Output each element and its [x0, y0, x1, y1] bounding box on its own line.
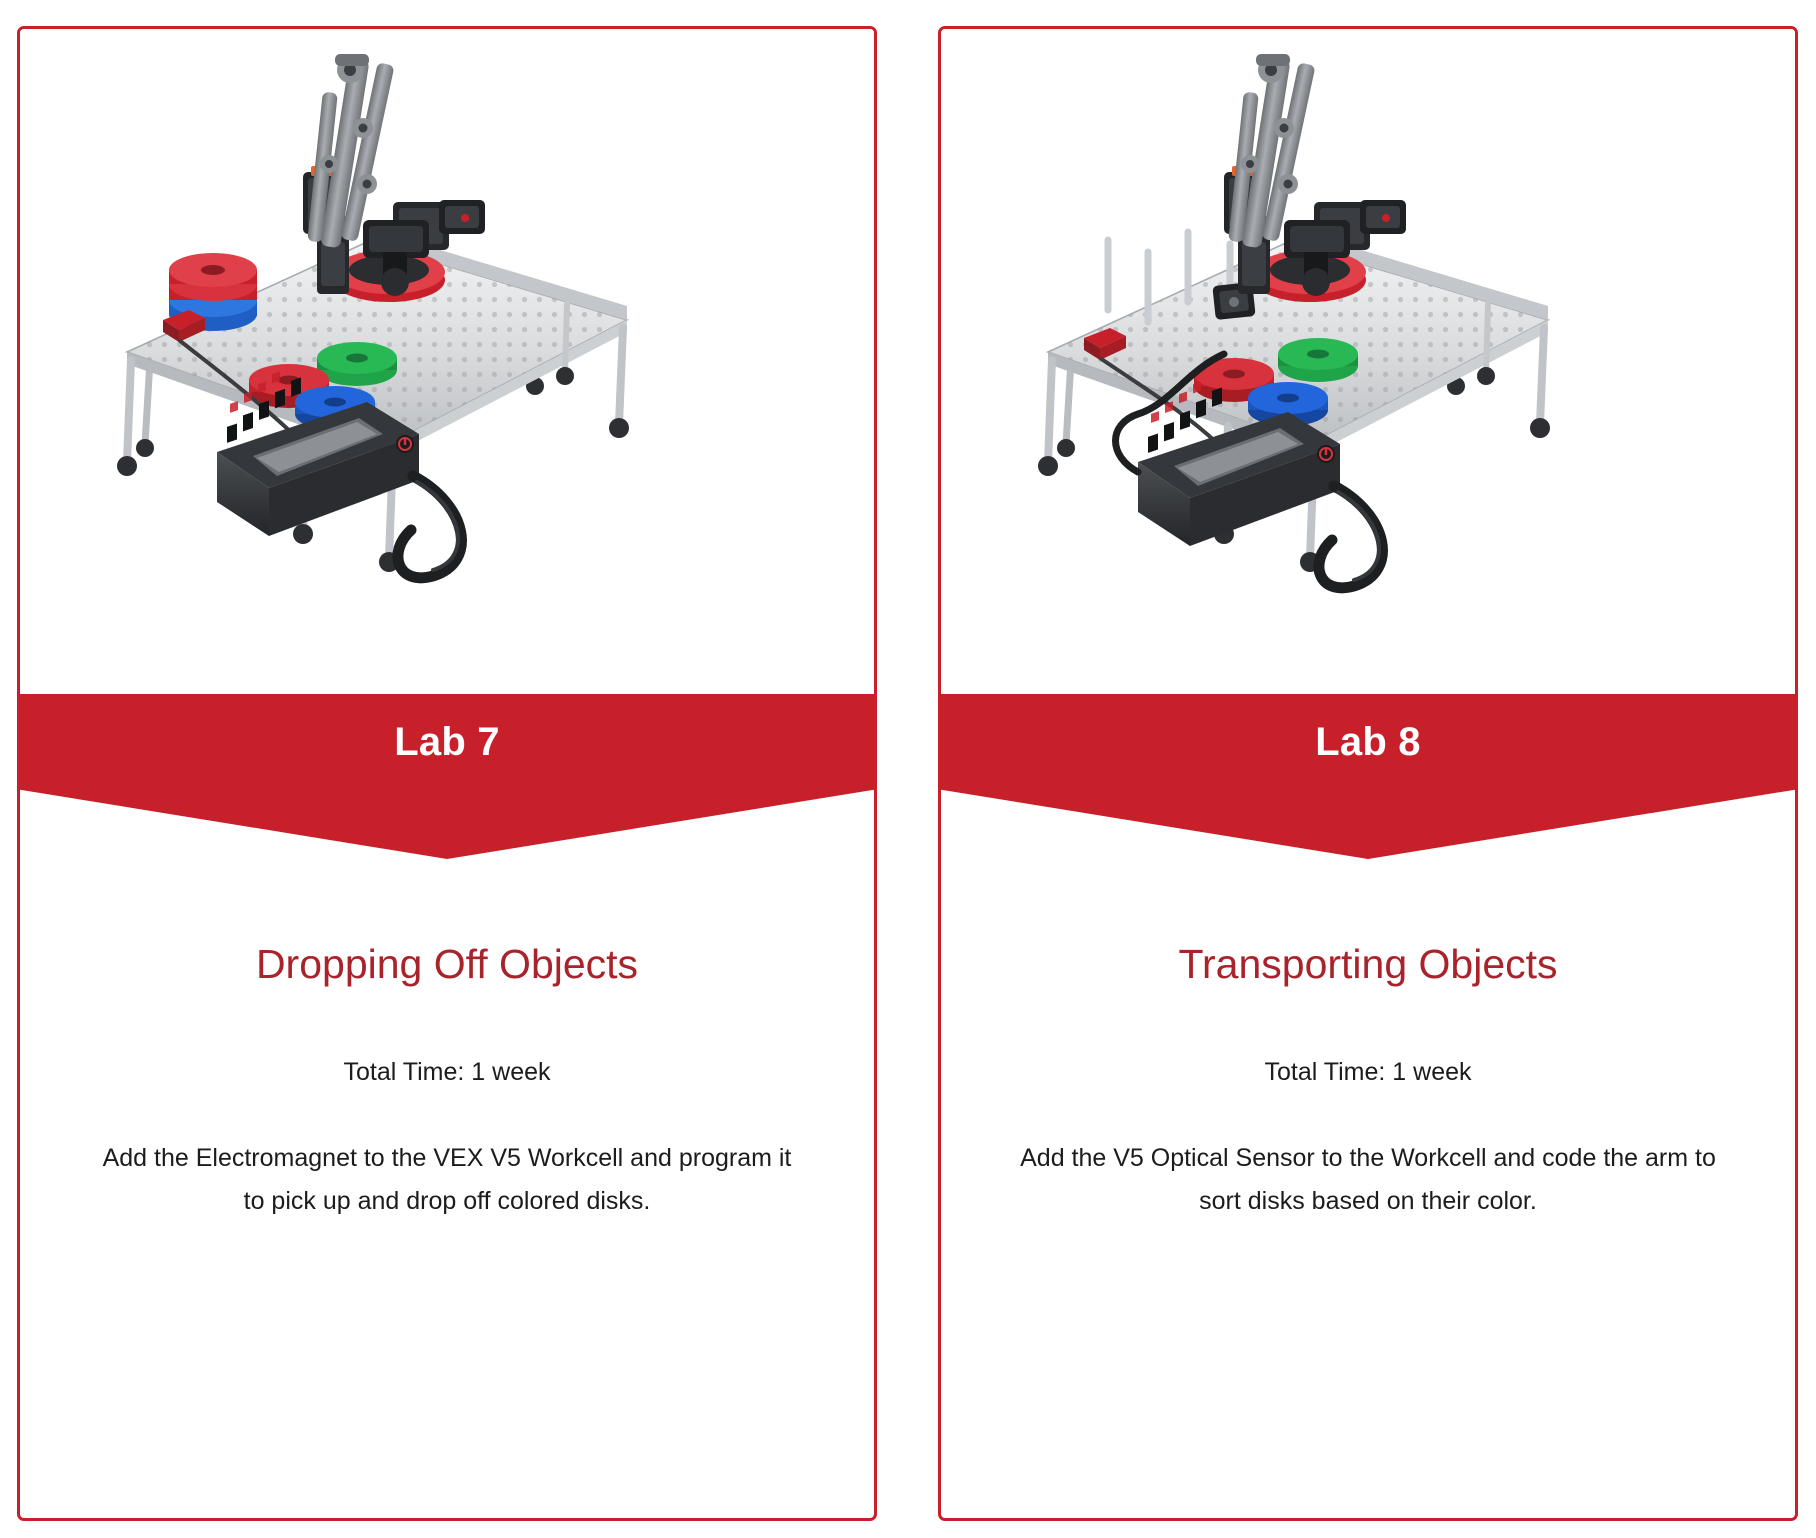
lab-banner: Lab 8 [941, 694, 1795, 859]
lab-card-body: Transporting Objects Total Time: 1 week … [941, 859, 1795, 1518]
lab-number-label: Lab 7 [20, 694, 874, 790]
workcell-illustration-electromagnet [67, 52, 827, 672]
lab-card[interactable]: Lab 7 Dropping Off Objects Total Time: 1… [17, 26, 877, 1521]
lab-cards-page: Lab 7 Dropping Off Objects Total Time: 1… [0, 0, 1816, 1538]
lab-total-time: Total Time: 1 week [997, 1054, 1739, 1090]
lab-cards-row: Lab 7 Dropping Off Objects Total Time: 1… [0, 0, 1816, 1538]
lab-title: Dropping Off Objects [76, 939, 818, 990]
lab-description: Add the Electromagnet to the VEX V5 Work… [76, 1137, 818, 1225]
lab-banner: Lab 7 [20, 694, 874, 859]
arm-linkage [307, 54, 394, 248]
lab-number-label: Lab 8 [941, 694, 1795, 790]
lab-title: Transporting Objects [997, 939, 1739, 990]
lab-card-body: Dropping Off Objects Total Time: 1 week … [20, 859, 874, 1518]
arm-linkage [1228, 54, 1315, 248]
lab-card[interactable]: Lab 8 Transporting Objects Total Time: 1… [938, 26, 1798, 1521]
lab-description: Add the V5 Optical Sensor to the Workcel… [997, 1137, 1739, 1225]
workcell-illustration-optical-sensor [988, 52, 1748, 672]
lab-card-image-lab7 [20, 29, 874, 694]
lab-card-image-lab8 [941, 29, 1795, 694]
lab-total-time: Total Time: 1 week [76, 1054, 818, 1090]
